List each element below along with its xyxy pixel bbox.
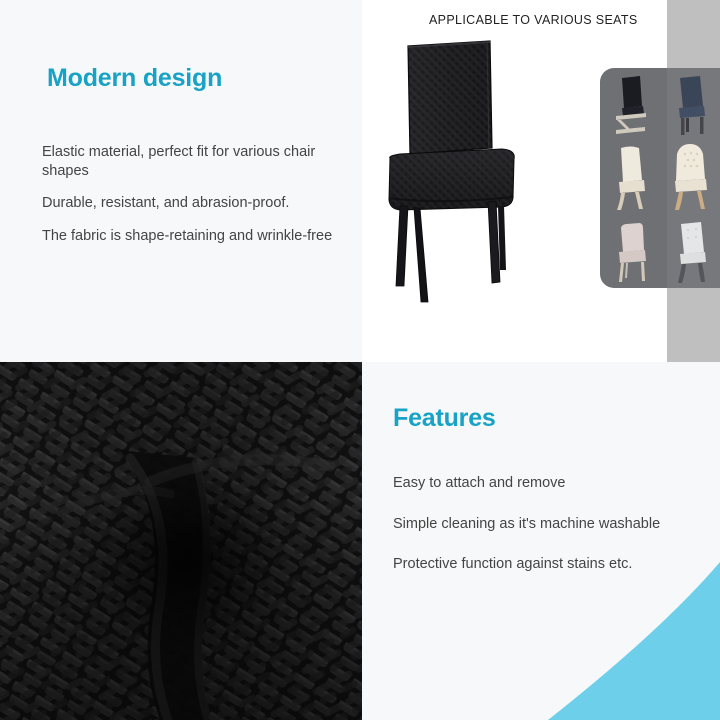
seat-thumbnail-cream[interactable] [600, 142, 660, 216]
features-bullet: Simple cleaning as it's machine washable [393, 515, 713, 534]
features-heading: Features [393, 404, 496, 433]
features-bullet: Easy to attach and remove [393, 474, 713, 493]
fabric-closeup-section [0, 362, 362, 720]
seat-thumbnail-panel [600, 68, 720, 288]
features-bullet-list: Easy to attach and remove Simple cleanin… [393, 474, 713, 596]
seat-thumbnail-black-chrome[interactable] [600, 68, 660, 142]
product-infographic: Modern design Elastic material, perfect … [0, 0, 720, 720]
modern-design-bullet: Durable, resistant, and abrasion-proof. [42, 194, 334, 213]
thumbnail-panel-overlay [667, 68, 720, 288]
modern-design-heading: Modern design [47, 64, 222, 93]
modern-design-bullet: The fabric is shape-retaining and wrinkl… [42, 227, 334, 246]
modern-design-bullet-list: Elastic material, perfect fit for variou… [42, 143, 334, 259]
applicable-seats-label: APPLICABLE TO VARIOUS SEATS [429, 13, 638, 27]
main-chair-photo [370, 30, 600, 355]
modern-design-bullet: Elastic material, perfect fit for variou… [42, 143, 334, 180]
features-bullet: Protective function against stains etc. [393, 555, 713, 574]
fabric-texture-photo [0, 362, 362, 720]
seat-thumbnail-beige[interactable] [600, 216, 660, 288]
modern-design-section: Modern design Elastic material, perfect … [0, 0, 362, 362]
